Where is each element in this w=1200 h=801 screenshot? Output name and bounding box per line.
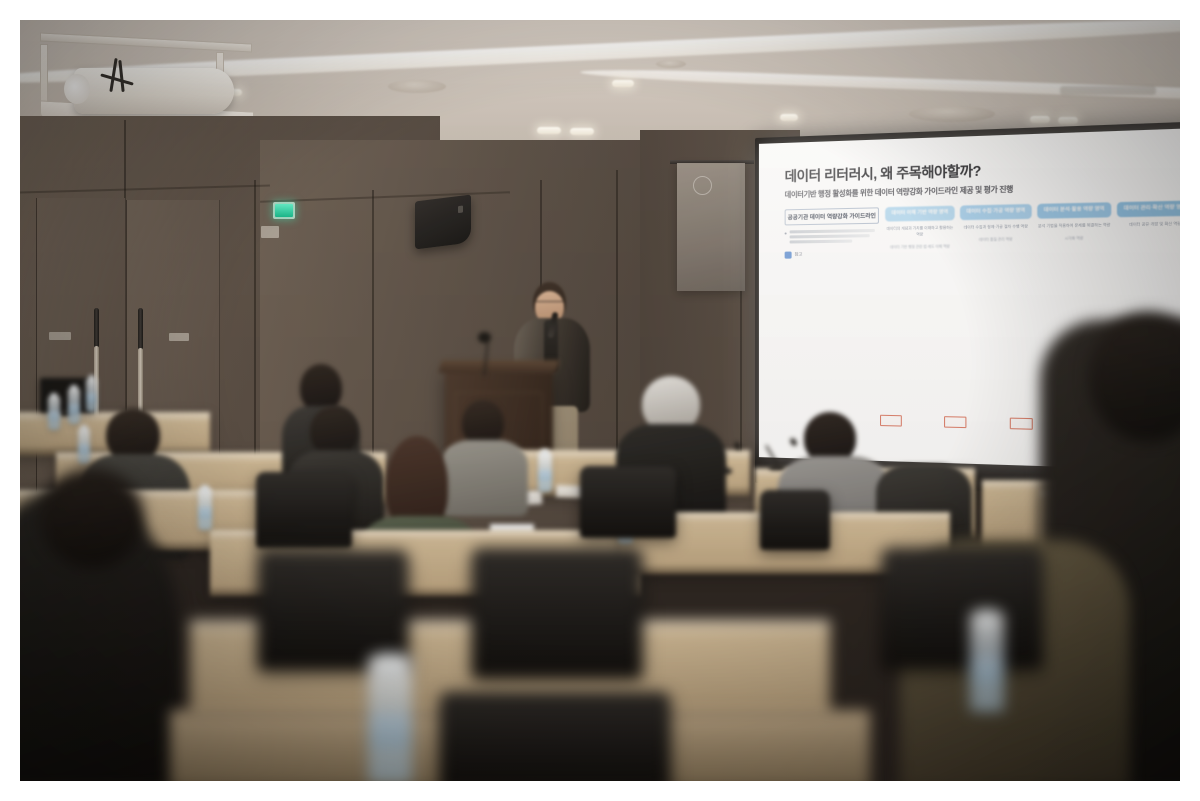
competency-column-desc: 데이터의 개념과 가치를 이해하고 활용하는 역량 — [885, 226, 954, 239]
competency-column-head: 데이터 수집·가공 역량 영역 — [960, 204, 1032, 221]
tag-square-icon — [785, 251, 792, 258]
foreground-chair[interactable] — [882, 548, 1042, 668]
presenter-glasses-icon — [536, 301, 563, 306]
audience-head — [300, 364, 342, 412]
water-bottle — [86, 378, 97, 412]
foreground-chair[interactable] — [258, 550, 408, 670]
exit-sign-light — [275, 204, 293, 217]
ceiling-vent — [1060, 86, 1156, 95]
chair[interactable] — [256, 472, 352, 548]
photo-frame: 데이터 리터러시, 왜 주목해야할까? 데이터기반 행정 활성화를 위한 데이터… — [0, 0, 1200, 801]
slot-light — [1030, 116, 1050, 123]
competency-column: 데이터 분석·활용 역량 영역 분석 기법을 적용하여 문제를 해결하는 역량 … — [1037, 202, 1111, 255]
water-bottle — [68, 388, 80, 424]
competency-column-desc2 — [1117, 235, 1180, 236]
slot-light — [780, 114, 798, 121]
audience-head — [310, 406, 358, 456]
slot-light — [612, 80, 634, 87]
slot-light — [1058, 117, 1078, 124]
competency-column: 데이터 이해 기반 역량 영역 데이터의 개념과 가치를 이해하고 활용하는 역… — [885, 206, 954, 257]
ceiling-speaker — [656, 60, 686, 68]
competency-column-head: 데이터 이해 기반 역량 영역 — [885, 206, 954, 222]
projector — [74, 68, 234, 114]
emergency-exit-sign — [273, 202, 295, 219]
slot-light — [570, 128, 594, 135]
wall-label-plate — [261, 226, 279, 238]
tag-label: 참고 — [795, 251, 803, 257]
competency-column-desc: 분석 기법을 적용하여 문제를 해결하는 역량 — [1037, 223, 1111, 230]
conference-room-photo: 데이터 리터러시, 왜 주목해야할까? 데이터기반 행정 활성화를 위한 데이터… — [20, 20, 1180, 781]
water-bottle — [48, 396, 60, 430]
competency-columns: 데이터 이해 기반 역량 영역 데이터의 개념과 가치를 이해하고 활용하는 역… — [885, 200, 1180, 257]
door-handle[interactable] — [138, 308, 143, 350]
foreground-person-left-head — [40, 468, 144, 568]
foreground-chair[interactable] — [440, 692, 670, 781]
ceiling-diffuser — [909, 106, 995, 122]
competency-column-head: 데이터 관리·확산 역량 영역 — [1117, 200, 1180, 217]
chair[interactable] — [580, 466, 676, 538]
foreground-chair[interactable] — [472, 548, 642, 678]
competency-column: 데이터 관리·확산 역량 영역 데이터 공유·개방 및 확산 역량 — [1117, 200, 1180, 254]
door-sign — [49, 332, 71, 340]
door-handle[interactable] — [94, 308, 99, 348]
banner-logo-icon — [693, 176, 712, 195]
ceiling-diffuser — [388, 80, 446, 93]
competency-column-desc2: 시각화 역량 — [1037, 236, 1111, 243]
slide-body: 공공기관 데이터 역량강화 가이드라인 참고 — [785, 200, 1180, 258]
slide-marker-box — [1010, 418, 1033, 430]
slide-tag: 참고 — [785, 250, 879, 258]
competency-column-desc: 데이터 수집과 정제·가공 절차 수행 역량 — [960, 225, 1032, 232]
competency-column-desc2: 데이터 품질 관리 역량 — [960, 237, 1032, 244]
chair[interactable] — [760, 490, 830, 550]
foreground-water-bottle — [970, 612, 1004, 712]
competency-column: 데이터 수집·가공 역량 영역 데이터 수집과 정제·가공 절차 수행 역량 데… — [960, 204, 1032, 256]
competency-column-desc: 데이터 공유·개방 및 확산 역량 — [1117, 222, 1180, 230]
projector-lens-icon — [64, 74, 90, 104]
slot-light — [537, 127, 561, 134]
water-bottle — [538, 452, 552, 492]
speaker-driver-icon — [458, 206, 463, 214]
slide-title: 데이터 리터러시, 왜 주목해야할까? — [785, 152, 1180, 185]
guideline-card-heading: 공공기관 데이터 역량강화 가이드라인 — [785, 207, 879, 225]
competency-column-head: 데이터 분석·활용 역량 영역 — [1037, 202, 1111, 219]
podium-microphone — [472, 330, 500, 376]
guideline-card: 공공기관 데이터 역량강화 가이드라인 참고 — [785, 207, 879, 258]
water-bottle — [198, 488, 212, 530]
wall-banner — [677, 163, 745, 291]
foreground-water-bottle — [368, 656, 412, 781]
guideline-card-bullets — [785, 229, 879, 243]
door-sign — [169, 333, 189, 341]
competency-column-desc2: 데이터 기반 행정 관련 법·제도 이해 역량 — [885, 244, 954, 251]
wall-speaker — [415, 195, 471, 250]
